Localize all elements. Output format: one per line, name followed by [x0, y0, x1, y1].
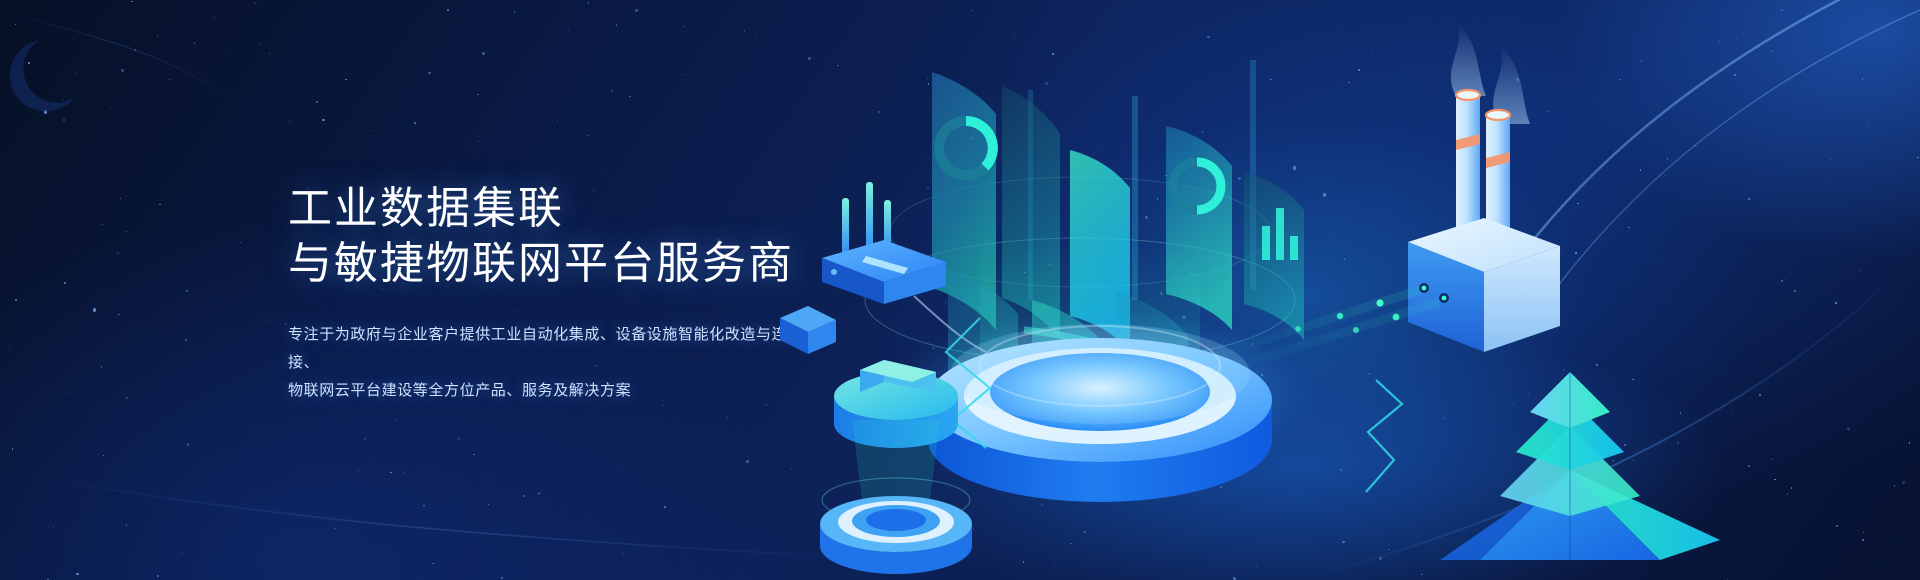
subtitle-line-2: 物联网云平台建设等全方位产品、服务及解决方案 — [288, 377, 818, 405]
pie-cylinder-glow — [852, 420, 940, 500]
smoke-plume-1 — [1451, 22, 1486, 96]
sensor-pad-center — [866, 509, 926, 531]
floating-cube — [780, 306, 836, 354]
hero-subtitle: 专注于为政府与企业客户提供工业自动化集成、设备设施智能化改造与连接、物联网云平台… — [288, 321, 818, 405]
hero-banner: 工业数据集联与敏捷物联网平台服务商 专注于为政府与企业客户提供工业自动化集成、设… — [0, 0, 1920, 580]
hero-illustration — [780, 0, 1920, 580]
headline-line-1: 工业数据集联 — [288, 184, 564, 233]
router-port-light — [831, 269, 837, 275]
subtitle-line-1: 专注于为政府与企业客户提供工业自动化集成、设备设施智能化改造与连接、 — [288, 321, 818, 377]
smokestack-1 — [1456, 92, 1480, 240]
sensor-pad — [820, 496, 972, 574]
isometric-industrial-iot-scene — [780, 0, 1920, 580]
